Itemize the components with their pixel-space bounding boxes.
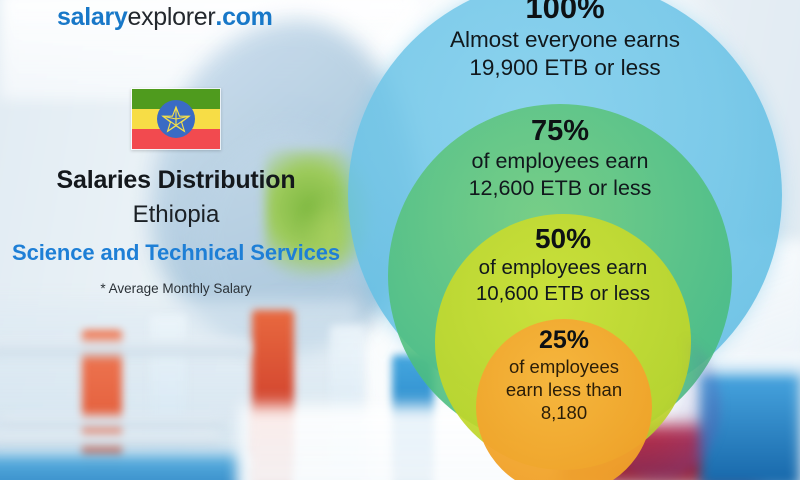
percentile-desc-75-line2: 12,600 ETB or less xyxy=(469,175,652,202)
percentile-desc-100-line2: 19,900 ETB or less xyxy=(469,54,660,82)
percentile-value-25: 25% xyxy=(539,326,589,355)
percentile-desc-25-line2: earn less than xyxy=(506,378,622,401)
percentile-value-100: 100% xyxy=(525,0,604,26)
percentile-desc-25-line1: of employees xyxy=(509,355,619,378)
job-category-label: Science and Technical Services xyxy=(0,240,352,267)
country-label: Ethiopia xyxy=(0,201,352,230)
flag-star-icon xyxy=(161,104,191,134)
percentile-desc-50-line1: of employees earn xyxy=(479,255,648,281)
percentile-desc-75-line1: of employees earn xyxy=(472,148,649,175)
percentile-desc-25-line3: 8,180 xyxy=(541,401,587,424)
logo-part-salary: salary xyxy=(57,3,128,31)
percentile-value-75: 75% xyxy=(531,115,589,148)
ethiopia-flag-icon xyxy=(131,88,221,150)
logo-part-explorer: explorer xyxy=(128,3,216,31)
percentile-desc-50-line2: 10,600 ETB or less xyxy=(476,281,650,307)
salary-note: * Average Monthly Salary xyxy=(0,281,352,296)
logo-part-tld: .com xyxy=(215,3,272,31)
site-logo[interactable]: salaryexplorer.com xyxy=(57,3,273,32)
flag-emblem-disc xyxy=(157,100,195,138)
percentile-desc-100-line1: Almost everyone earns xyxy=(450,26,680,54)
page-title: Salaries Distribution xyxy=(0,166,352,196)
percentile-value-50: 50% xyxy=(535,223,591,255)
info-panel: Salaries Distribution Ethiopia Science a… xyxy=(0,88,352,296)
